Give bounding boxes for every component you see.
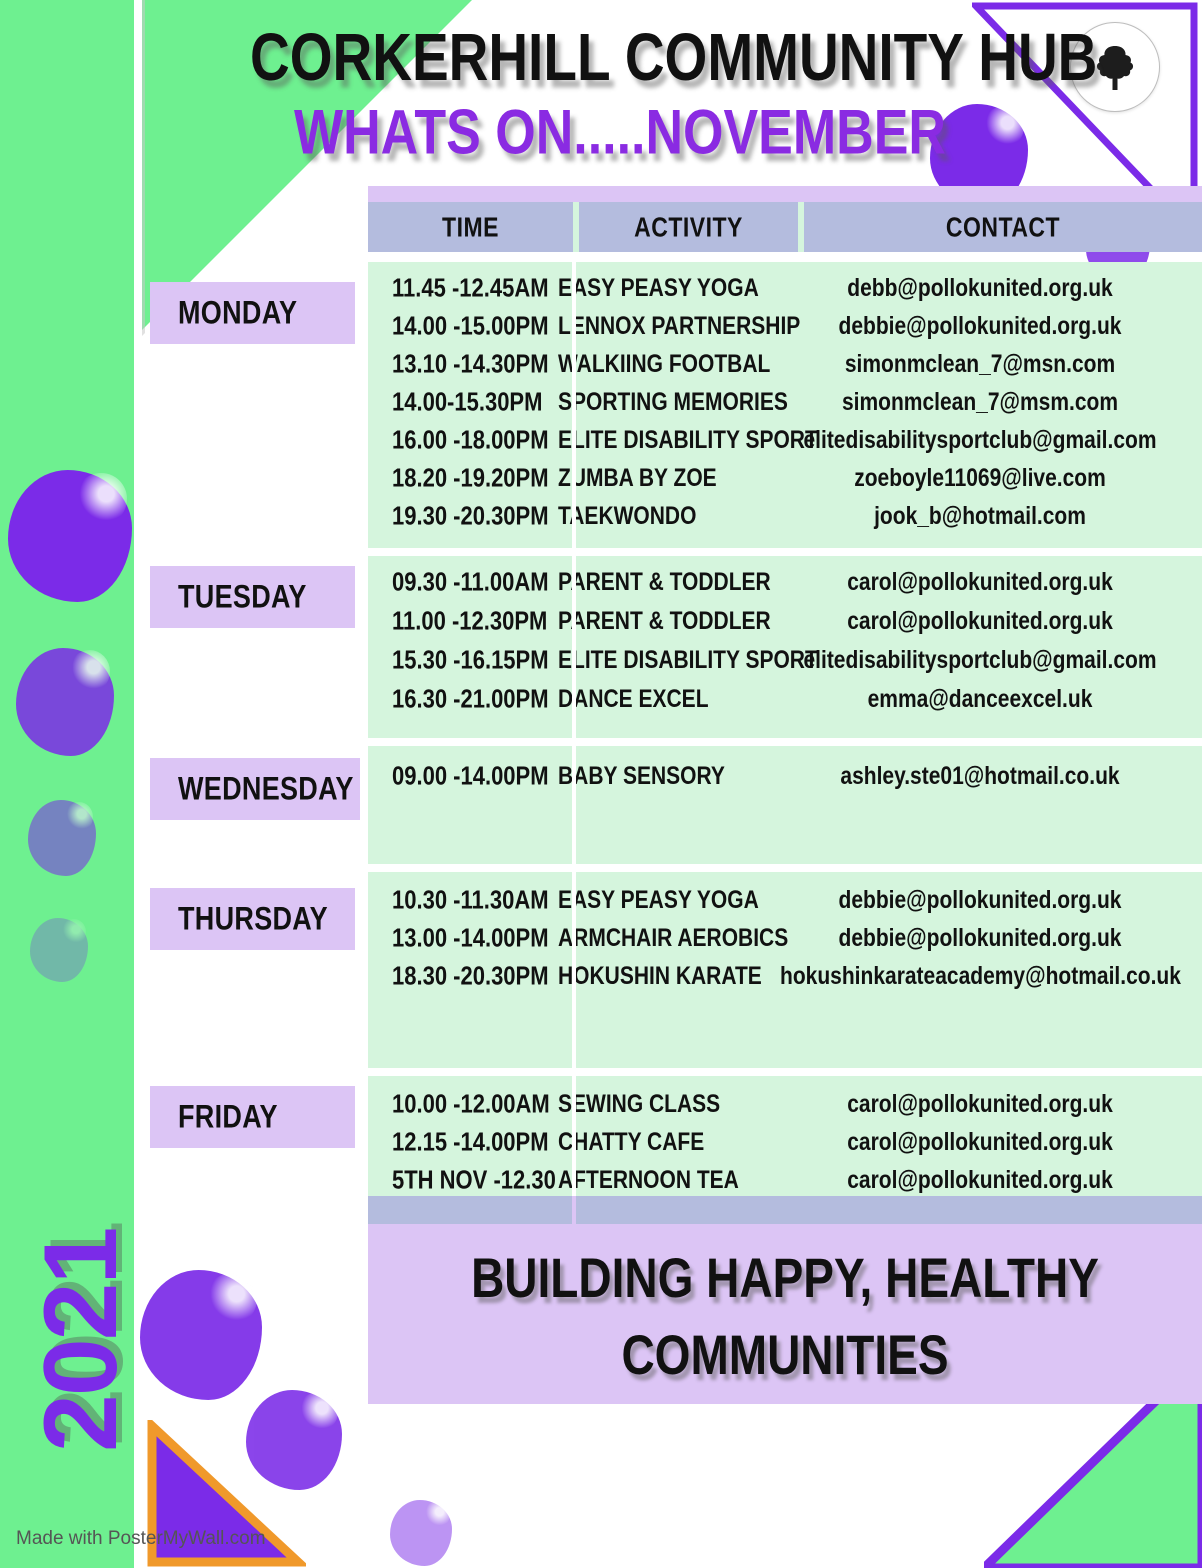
day-label-thursday: THURSDAY: [150, 888, 355, 950]
schedule-row: 12.15 -14.00PMCHATTY CAFEcarol@pollokuni…: [368, 1129, 1202, 1155]
paint-splotch-1: [8, 470, 132, 602]
contact-cell-text: debb@pollokunited.org.uk: [847, 275, 1112, 303]
day-label-text: MONDAY: [178, 294, 297, 331]
schedule-row: 14.00-15.30PMSPORTING MEMORIESsimonmclea…: [368, 389, 1202, 415]
column-header-activity-label: ACTIVITY: [634, 211, 743, 244]
activity-cell: DANCE EXCEL: [558, 688, 780, 712]
contact-cell: debbie@pollokunited.org.uk: [780, 315, 1180, 339]
activity-cell: SEWING CLASS: [558, 1093, 780, 1117]
contact-cell-text: debbie@pollokunited.org.uk: [839, 887, 1122, 915]
schedule-row: 10.00 -12.00AMSEWING CLASScarol@pollokun…: [368, 1091, 1202, 1117]
time-cell-text: 14.00 -15.00PM: [392, 311, 549, 342]
day-label-text: TUESDAY: [178, 578, 307, 615]
time-cell-text: 10.30 -11.30AM: [392, 885, 549, 916]
contact-cell-text: simonmclean_7@msn.com: [845, 351, 1115, 379]
contact-cell-text: carol@pollokunited.org.uk: [847, 1167, 1113, 1195]
contact-cell: zoeboyle11069@live.com: [780, 467, 1180, 491]
paint-splotch-2: [16, 648, 114, 756]
contact-cell-text: simonmclean_7@msm.com: [842, 389, 1118, 417]
poster-canvas: NOVEMBER 2021 CORKERHILL COMMUNITY HUB W…: [0, 0, 1202, 1568]
day-label-text: THURSDAY: [178, 900, 328, 937]
activity-cell-text: WALKIING FOOTBAL: [558, 351, 770, 379]
schedule-row: 10.30 -11.30AMEASY PEASY YOGAdebbie@poll…: [368, 887, 1202, 913]
activity-cell-text: PARENT & TODDLER: [558, 569, 771, 597]
time-cell-text: 18.30 -20.30PM: [392, 961, 549, 992]
time-cell: 13.00 -14.00PM: [368, 925, 558, 951]
column-separator: [572, 262, 576, 548]
time-cell: 19.30 -20.30PM: [368, 503, 558, 529]
activity-cell-text: PARENT & TODDLER: [558, 608, 771, 636]
contact-cell: carol@pollokunited.org.uk: [780, 610, 1180, 634]
time-cell: 16.00 -18.00PM: [368, 427, 558, 453]
contact-cell-text: carol@pollokunited.org.uk: [847, 569, 1113, 597]
time-cell-text: 14.00-15.30PM: [392, 387, 542, 418]
contact-cell-text: emma@danceexcel.uk: [868, 686, 1093, 714]
activity-cell: TAEKWONDO: [558, 505, 780, 529]
contact-cell-text: zoeboyle11069@live.com: [854, 465, 1106, 493]
day-label-friday: FRIDAY: [150, 1086, 355, 1148]
schedule-row: 13.10 -14.30PMWALKIING FOOTBALsimonmclea…: [368, 351, 1202, 377]
contact-cell: carol@pollokunited.org.uk: [780, 1131, 1180, 1155]
table-top-lavender-band: [368, 186, 1202, 202]
time-cell-text: 16.30 -21.00PM: [392, 684, 549, 715]
activity-cell: WALKIING FOOTBAL: [558, 353, 780, 377]
schedule-row: 16.00 -18.00PMELITE DISABILITY SPORTelit…: [368, 427, 1202, 453]
time-cell: 09.00 -14.00PM: [368, 763, 558, 789]
contact-cell-text: elitedisabilitysportclub@gmail.com: [803, 647, 1156, 675]
column-separator: [572, 746, 576, 864]
contact-cell: jook_b@hotmail.com: [780, 505, 1180, 529]
contact-cell: ashley.ste01@hotmail.co.uk: [780, 765, 1180, 789]
time-cell-text: 11.00 -12.30PM: [392, 606, 547, 637]
activity-cell-text: ELITE DISABILITY SPORT: [558, 647, 818, 675]
paint-splotch-3: [28, 800, 96, 876]
contact-cell: debbie@pollokunited.org.uk: [780, 889, 1180, 913]
time-cell: 09.30 -11.00AM: [368, 569, 558, 595]
footer-top-band: [368, 1196, 1202, 1224]
contact-cell-text: jook_b@hotmail.com: [874, 503, 1086, 531]
table-header-row: TIME ACTIVITY CONTACT: [368, 202, 1202, 252]
activity-cell: LENNOX PARTNERSHIP: [558, 315, 780, 339]
contact-cell: debb@pollokunited.org.uk: [780, 277, 1180, 301]
schedule-row: 18.30 -20.30PMHOKUSHIN KARATEhokushinkar…: [368, 963, 1202, 989]
activity-cell-text: EASY PEASY YOGA: [558, 275, 759, 303]
day-label-text: FRIDAY: [178, 1098, 278, 1135]
activity-cell-text: CHATTY CAFE: [558, 1129, 704, 1157]
poster-heading: CORKERHILL COMMUNITY HUB WHATS ON.....NO…: [250, 24, 990, 153]
schedule-row: 19.30 -20.30PMTAEKWONDOjook_b@hotmail.co…: [368, 503, 1202, 529]
day-label-text: WEDNESDAY: [178, 770, 354, 807]
schedule-row: 5TH NOV -12.30AFTERNOON TEAcarol@polloku…: [368, 1167, 1202, 1193]
column-separator: [572, 1076, 576, 1196]
schedule-row: 09.00 -14.00PMBABY SENSORYashley.ste01@h…: [368, 763, 1202, 789]
activity-cell: CHATTY CAFE: [558, 1131, 780, 1155]
contact-cell: hokushinkarateacademy@hotmail.co.uk: [780, 965, 1180, 989]
schedule-row: 15.30 -16.15PMELITE DISABILITY SPORTelit…: [368, 647, 1202, 673]
contact-cell-text: carol@pollokunited.org.uk: [847, 1129, 1113, 1157]
day-label-tuesday: TUESDAY: [150, 566, 355, 628]
column-header-time: TIME: [368, 202, 573, 252]
contact-cell: carol@pollokunited.org.uk: [780, 1093, 1180, 1117]
contact-cell: emma@danceexcel.uk: [780, 688, 1180, 712]
time-cell: 10.00 -12.00AM: [368, 1091, 558, 1117]
time-cell-text: 13.00 -14.00PM: [392, 923, 549, 954]
contact-cell: elitedisabilitysportclub@gmail.com: [780, 429, 1180, 453]
activity-cell: EASY PEASY YOGA: [558, 277, 780, 301]
tagline-line-1: BUILDING HAPPY, HEALTHY: [471, 1249, 1099, 1307]
tree-icon: [1092, 42, 1138, 92]
watermark-label: Made with PosterMyWall.com: [16, 1528, 266, 1550]
activity-cell: PARENT & TODDLER: [558, 610, 780, 634]
page-subtitle: WHATS ON.....NOVEMBER: [250, 101, 990, 164]
activity-cell: SPORTING MEMORIES: [558, 391, 780, 415]
time-cell: 12.15 -14.00PM: [368, 1129, 558, 1155]
time-cell-text: 12.15 -14.00PM: [392, 1127, 549, 1158]
contact-cell-text: carol@pollokunited.org.uk: [847, 1091, 1113, 1119]
paint-splotch-5: [140, 1270, 262, 1400]
time-cell-text: 09.30 -11.00AM: [392, 567, 549, 598]
time-cell: 16.30 -21.00PM: [368, 686, 558, 712]
activity-cell-text: DANCE EXCEL: [558, 686, 709, 714]
activity-cell: PARENT & TODDLER: [558, 571, 780, 595]
schedule-row: 09.30 -11.00AMPARENT & TODDLERcarol@poll…: [368, 569, 1202, 595]
time-cell-text: 19.30 -20.30PM: [392, 501, 549, 532]
time-cell: 14.00 -15.00PM: [368, 313, 558, 339]
contact-cell-text: elitedisabilitysportclub@gmail.com: [803, 427, 1156, 455]
time-cell: 11.00 -12.30PM: [368, 608, 558, 634]
activity-cell-text: ZUMBA BY ZOE: [558, 465, 717, 493]
activity-cell: ARMCHAIR AEROBICS: [558, 927, 780, 951]
activity-cell-text: SPORTING MEMORIES: [558, 389, 788, 417]
activity-cell: ELITE DISABILITY SPORT: [558, 649, 780, 673]
paint-splotch-7: [390, 1500, 452, 1566]
tagline-band: BUILDING HAPPY, HEALTHY COMMUNITIES: [368, 1224, 1202, 1404]
contact-cell-text: carol@pollokunited.org.uk: [847, 608, 1113, 636]
schedule-row: 16.30 -21.00PMDANCE EXCELemma@danceexcel…: [368, 686, 1202, 712]
time-cell-text: 09.00 -14.00PM: [392, 761, 549, 792]
contact-cell: carol@pollokunited.org.uk: [780, 1169, 1180, 1193]
day-label-monday: MONDAY: [150, 282, 355, 344]
column-header-contact: CONTACT: [804, 202, 1202, 252]
schedule-row: 11.45 -12.45AMEASY PEASY YOGAdebb@pollok…: [368, 275, 1202, 301]
footer-band-separator: [572, 1196, 576, 1224]
contact-cell-text: debbie@pollokunited.org.uk: [839, 925, 1122, 953]
time-cell: 11.45 -12.45AM: [368, 275, 558, 301]
activity-cell: HOKUSHIN KARATE: [558, 965, 780, 989]
contact-cell: elitedisabilitysportclub@gmail.com: [780, 649, 1180, 673]
page-title: CORKERHILL COMMUNITY HUB: [250, 24, 990, 91]
tagline-line-2: COMMUNITIES: [621, 1326, 948, 1384]
column-header-time-label: TIME: [442, 211, 499, 244]
activity-cell: ELITE DISABILITY SPORT: [558, 429, 780, 453]
column-separator: [572, 556, 576, 738]
column-separator: [572, 872, 576, 1068]
time-cell-text: 10.00 -12.00AM: [392, 1089, 550, 1120]
activity-cell-text: SEWING CLASS: [558, 1091, 720, 1119]
activity-cell-text: ELITE DISABILITY SPORT: [558, 427, 818, 455]
time-cell: 18.30 -20.30PM: [368, 963, 558, 989]
activity-cell: ZUMBA BY ZOE: [558, 467, 780, 491]
time-cell: 18.20 -19.20PM: [368, 465, 558, 491]
contact-cell: simonmclean_7@msn.com: [780, 353, 1180, 377]
paint-splotch-4: [30, 918, 88, 982]
contact-cell-text: debbie@pollokunited.org.uk: [839, 313, 1122, 341]
column-header-activity: ACTIVITY: [579, 202, 798, 252]
contact-cell-text: ashley.ste01@hotmail.co.uk: [840, 763, 1119, 791]
time-cell-text: 13.10 -14.30PM: [392, 349, 549, 380]
day-label-wednesday: WEDNESDAY: [150, 758, 360, 820]
schedule-row: 13.00 -14.00PMARMCHAIR AEROBICSdebbie@po…: [368, 925, 1202, 951]
schedule-row: 18.20 -19.20PMZUMBA BY ZOEzoeboyle11069@…: [368, 465, 1202, 491]
column-header-contact-label: CONTACT: [946, 211, 1060, 244]
schedule-row: 14.00 -15.00PMLENNOX PARTNERSHIPdebbie@p…: [368, 313, 1202, 339]
time-cell: 14.00-15.30PM: [368, 389, 558, 415]
time-cell: 5TH NOV -12.30: [368, 1167, 558, 1193]
time-cell-text: 16.00 -18.00PM: [392, 425, 549, 456]
time-cell-text: 15.30 -16.15PM: [392, 645, 549, 676]
time-cell: 15.30 -16.15PM: [368, 647, 558, 673]
activity-cell-text: TAEKWONDO: [558, 503, 696, 531]
activity-cell: AFTERNOON TEA: [558, 1169, 780, 1193]
contact-cell: debbie@pollokunited.org.uk: [780, 927, 1180, 951]
activity-cell-text: EASY PEASY YOGA: [558, 887, 759, 915]
time-cell-text: 18.20 -19.20PM: [392, 463, 549, 494]
vertical-year-label: 2021: [22, 1229, 141, 1452]
activity-cell: BABY SENSORY: [558, 765, 780, 789]
contact-cell: carol@pollokunited.org.uk: [780, 571, 1180, 595]
contact-cell-text: hokushinkarateacademy@hotmail.co.uk: [780, 963, 1181, 991]
activity-cell-text: HOKUSHIN KARATE: [558, 963, 762, 991]
time-cell-text: 5TH NOV -12.30: [392, 1165, 556, 1196]
activity-cell-text: BABY SENSORY: [558, 763, 725, 791]
activity-cell-text: AFTERNOON TEA: [558, 1167, 739, 1195]
activity-cell-text: ARMCHAIR AEROBICS: [558, 925, 788, 953]
activity-cell: EASY PEASY YOGA: [558, 889, 780, 913]
time-cell: 10.30 -11.30AM: [368, 887, 558, 913]
time-cell: 13.10 -14.30PM: [368, 351, 558, 377]
schedule-row: 11.00 -12.30PMPARENT & TODDLERcarol@poll…: [368, 608, 1202, 634]
contact-cell: simonmclean_7@msm.com: [780, 391, 1180, 415]
time-cell-text: 11.45 -12.45AM: [392, 273, 549, 304]
activity-cell-text: LENNOX PARTNERSHIP: [558, 313, 800, 341]
